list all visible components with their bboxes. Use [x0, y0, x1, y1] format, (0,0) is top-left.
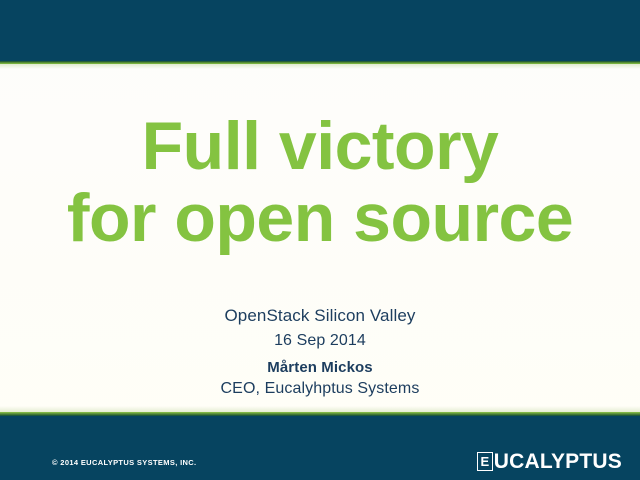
logo-mark-letter: E [480, 455, 489, 468]
speaker-name: Mårten Mickos [0, 357, 640, 378]
eucalyptus-logo: E UCALYPTUS [477, 450, 622, 472]
slide-title: Full victory for open source [0, 110, 640, 254]
slide: Full victory for open source OpenStack S… [0, 0, 640, 480]
title-line-2: for open source [0, 182, 640, 254]
slide-subtitle: OpenStack Silicon Valley 16 Sep 2014 Mår… [0, 303, 640, 399]
event-date: 16 Sep 2014 [0, 328, 640, 353]
event-name: OpenStack Silicon Valley [0, 303, 640, 328]
title-line-1: Full victory [0, 110, 640, 182]
logo-wordmark: UCALYPTUS [494, 451, 622, 472]
eucalyptus-logo-mark-icon: E [477, 452, 493, 471]
top-band [0, 0, 640, 61]
speaker-role: CEO, Eucalyhptus Systems [0, 378, 640, 399]
top-accent-rule-fade [0, 64, 640, 69]
copyright-notice: © 2014 EUCALYPTUS SYSTEMS, INC. [52, 458, 196, 467]
